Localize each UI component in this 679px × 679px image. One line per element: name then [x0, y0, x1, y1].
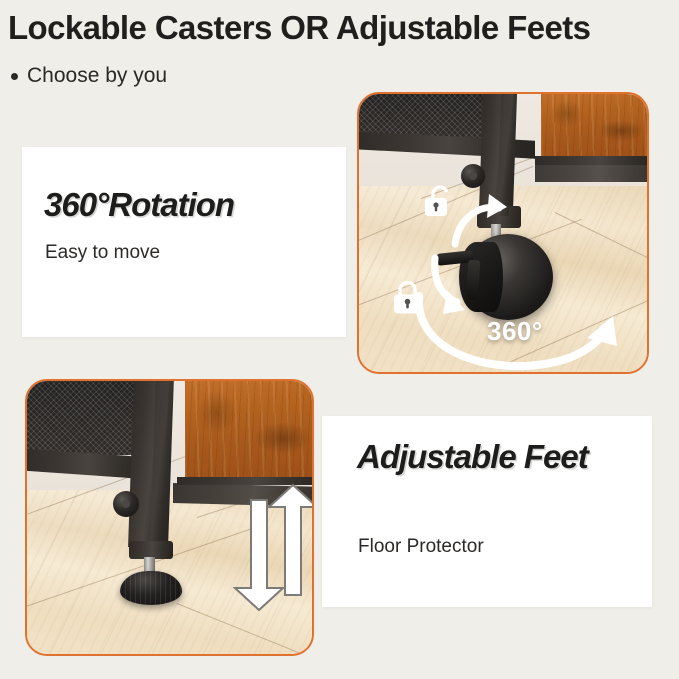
- rotation-degree-label: 360°: [487, 316, 543, 347]
- arrow-up-icon: [259, 481, 314, 599]
- leg-knob: [461, 164, 485, 188]
- wood-shelf-panel: [185, 379, 314, 479]
- leg-knob-center: [122, 500, 130, 508]
- leg-knob: [113, 491, 139, 517]
- feet-photo: [25, 379, 314, 656]
- rotation-card-title: 360°Rotation: [44, 188, 234, 223]
- feet-card-title: Adjustable Feet: [357, 440, 617, 475]
- curved-arrow-up-icon: [445, 188, 515, 254]
- infographic-canvas: Lockable Casters OR Adjustable Feets Cho…: [0, 0, 679, 679]
- mesh-panel: [25, 379, 141, 455]
- wood-shelf-panel: [541, 92, 649, 158]
- leg-knob-center: [469, 172, 477, 180]
- rotation-card-subtitle: Easy to move: [45, 242, 160, 264]
- shelf-under-rail: [535, 164, 649, 182]
- adjustable-foot-pad: [120, 571, 182, 605]
- feet-card-subtitle: Floor Protector: [358, 536, 484, 558]
- caster-photo-scene: 360°: [359, 94, 647, 372]
- caster-photo: 360°: [357, 92, 649, 374]
- bullet-dot-icon: [11, 73, 18, 80]
- subtitle-text: Choose by you: [27, 64, 167, 88]
- subtitle-bullet-line: Choose by you: [11, 64, 167, 88]
- feet-photo-scene: [27, 381, 312, 654]
- page-title: Lockable Casters OR Adjustable Feets: [8, 9, 673, 47]
